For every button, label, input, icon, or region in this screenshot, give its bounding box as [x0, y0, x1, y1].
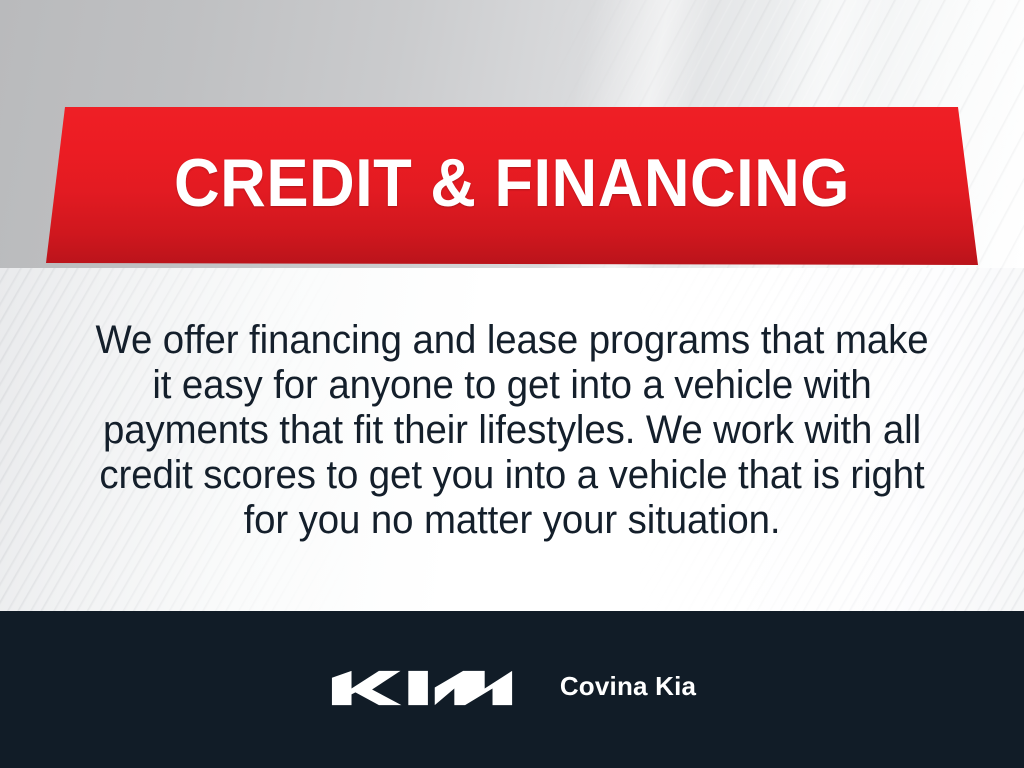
page-title: CREDIT & FINANCING	[36, 128, 988, 238]
kia-logo	[328, 663, 518, 710]
dealer-name: Covina Kia	[560, 671, 696, 702]
footer-content: Covina Kia	[0, 611, 1024, 768]
promo-slide: CREDIT & FINANCING We offer financing an…	[0, 0, 1024, 768]
footer-bar: Covina Kia	[0, 611, 1024, 768]
body-paragraph: We offer financing and lease programs th…	[95, 318, 928, 543]
